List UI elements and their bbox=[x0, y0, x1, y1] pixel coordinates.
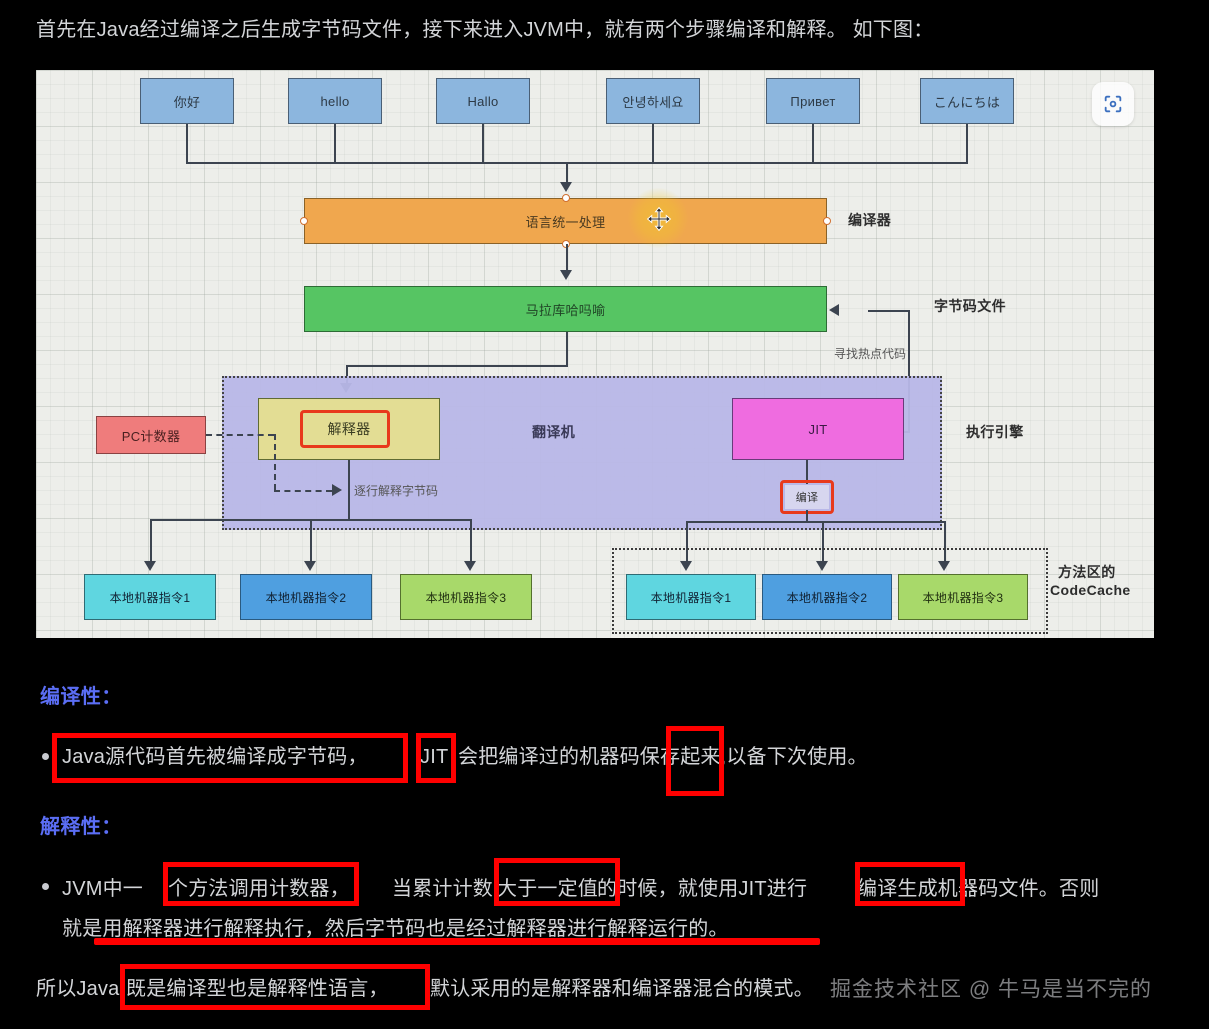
arrowhead bbox=[560, 182, 572, 192]
label-translator: 翻译机 bbox=[532, 422, 575, 442]
interpreter-box-label: 解释器 bbox=[328, 419, 371, 439]
native-instruction-label: 本地机器指令2 bbox=[266, 589, 347, 606]
language-box-5[interactable]: こんにちは bbox=[920, 78, 1014, 124]
label-bytecode-file: 字节码文件 bbox=[934, 296, 1006, 316]
arrowhead bbox=[332, 484, 342, 496]
native-instruction-label: 本地机器指令2 bbox=[787, 589, 868, 606]
connector-fanout-right bbox=[686, 521, 946, 523]
closing-part1: 所以Java bbox=[36, 972, 119, 1006]
label-codecache-line1: 方法区的 bbox=[1058, 562, 1116, 582]
connector bbox=[812, 124, 814, 162]
jit-box[interactable]: JIT bbox=[732, 398, 904, 460]
native-instruction-right-1[interactable]: 本地机器指令2 bbox=[762, 574, 892, 620]
language-box-label: Hallo bbox=[467, 94, 498, 109]
pc-counter-box[interactable]: PC计数器 bbox=[96, 416, 206, 454]
native-instruction-label: 本地机器指令1 bbox=[110, 589, 191, 606]
language-box-3[interactable]: 안녕하세요 bbox=[606, 78, 700, 124]
language-box-label: hello bbox=[321, 94, 350, 109]
jit-box-label: JIT bbox=[809, 422, 828, 437]
connector bbox=[966, 124, 968, 162]
bullet-marker bbox=[42, 753, 49, 760]
native-instruction-left-0[interactable]: 本地机器指令1 bbox=[84, 574, 216, 620]
arrowhead bbox=[144, 561, 156, 571]
connector bbox=[346, 365, 568, 367]
interpreted-line1-a: JVM中一 bbox=[62, 872, 143, 906]
connector bbox=[566, 332, 568, 366]
native-instruction-left-1[interactable]: 本地机器指令2 bbox=[240, 574, 372, 620]
bytecode-box[interactable]: 马拉库哈吗喻 bbox=[304, 286, 827, 332]
label-find-hot-code: 寻找热点代码 bbox=[834, 345, 906, 362]
closing-part3: 默认采用的是解释器和编译器混合的模式。 bbox=[430, 972, 814, 1006]
label-compiler: 编译器 bbox=[848, 210, 891, 230]
anchor-handle-left[interactable] bbox=[300, 217, 308, 225]
interpreted-line1-e: 的时候，就使用JIT进行 bbox=[597, 872, 807, 906]
anchor-handle-right[interactable] bbox=[823, 217, 831, 225]
label-compile: 编译 bbox=[796, 489, 819, 505]
lens-scan-icon bbox=[1102, 93, 1124, 115]
language-box-label: こんにちは bbox=[934, 92, 1001, 111]
language-box-label: Привет bbox=[790, 94, 835, 109]
closing-part2: 既是编译型也是解释性语言， bbox=[126, 972, 389, 1006]
compiled-bullet-part2: JIT bbox=[420, 740, 448, 774]
label-execution-engine: 执行引擎 bbox=[966, 422, 1024, 442]
label-line-by-line: 逐行解释字节码 bbox=[354, 482, 438, 499]
native-instruction-label: 本地机器指令3 bbox=[426, 589, 507, 606]
connector bbox=[652, 124, 654, 162]
connector bbox=[150, 519, 152, 567]
lens-scan-button[interactable] bbox=[1092, 82, 1134, 126]
connector bbox=[470, 519, 472, 567]
compiled-bullet-part3: 会把编译过的机器码保存起来,以备下次使用。 bbox=[458, 740, 868, 774]
connector-hotcode-h bbox=[868, 310, 910, 312]
intro-paragraph: 首先在Java经过编译之后生成字节码文件，接下来进入JVM中，就有两个步骤编译和… bbox=[36, 14, 1176, 46]
arrowhead bbox=[829, 304, 839, 316]
interpreter-box[interactable]: 解释器 bbox=[258, 398, 440, 460]
language-box-1[interactable]: hello bbox=[288, 78, 382, 124]
native-instruction-left-2[interactable]: 本地机器指令3 bbox=[400, 574, 532, 620]
connector-dashed bbox=[274, 434, 276, 490]
connector bbox=[348, 460, 350, 520]
language-box-0[interactable]: 你好 bbox=[140, 78, 234, 124]
interpreted-line1-f: 编译生成机器码文件。否则 bbox=[857, 872, 1099, 906]
native-instruction-right-0[interactable]: 本地机器指令1 bbox=[626, 574, 756, 620]
jvm-architecture-diagram: 你好 hello Hallo 안녕하세요 Привет こんにちは 语言统 bbox=[36, 70, 1154, 638]
connector-dashed bbox=[274, 490, 332, 492]
language-box-2[interactable]: Hallo bbox=[436, 78, 530, 124]
language-box-label: 안녕하세요 bbox=[622, 92, 683, 111]
connector-bus bbox=[186, 162, 968, 164]
pc-counter-label: PC计数器 bbox=[122, 426, 181, 445]
page-root: 首先在Java经过编译之后生成字节码文件，接下来进入JVM中，就有两个步骤编译和… bbox=[0, 0, 1209, 1029]
language-box-label: 你好 bbox=[174, 92, 201, 111]
native-instruction-label: 本地机器指令3 bbox=[923, 589, 1004, 606]
connector bbox=[310, 519, 312, 567]
language-box-4[interactable]: Привет bbox=[766, 78, 860, 124]
connector bbox=[482, 124, 484, 162]
arrowhead bbox=[304, 561, 316, 571]
native-instruction-label: 本地机器指令1 bbox=[651, 589, 732, 606]
connector-dashed bbox=[206, 434, 274, 436]
section-heading-interpreted: 解释性： bbox=[40, 810, 122, 839]
interpreted-line1-d: 大于一定值 bbox=[497, 872, 598, 906]
arrowhead bbox=[464, 561, 476, 571]
interpreted-line1-b: 个方法调用计数器， bbox=[168, 872, 350, 906]
interpreted-line2: 就是用解释器进行解释执行，然后字节码也是经过解释器进行解释运行的。 bbox=[62, 912, 729, 946]
arrowhead bbox=[560, 270, 572, 280]
connector bbox=[334, 124, 336, 162]
bytecode-box-label: 马拉库哈吗喻 bbox=[526, 300, 606, 319]
interpreted-line1-c: 当累计计数 bbox=[392, 872, 493, 906]
connector bbox=[186, 124, 188, 162]
native-instruction-right-2[interactable]: 本地机器指令3 bbox=[898, 574, 1028, 620]
watermark: 掘金技术社区 @ 牛马是当不完的 bbox=[830, 973, 1152, 1003]
move-cursor-icon bbox=[646, 206, 672, 237]
compiled-bullet-part1: Java源代码首先被编译成字节码， bbox=[62, 740, 368, 774]
language-unify-box[interactable]: 语言统一处理 bbox=[304, 198, 827, 244]
compile-edge-label-box: 编译 bbox=[784, 484, 830, 510]
language-unify-label: 语言统一处理 bbox=[526, 212, 606, 231]
section-heading-compiled: 编译性： bbox=[40, 680, 122, 709]
anchor-handle-top[interactable] bbox=[562, 194, 570, 202]
bullet-marker bbox=[42, 883, 49, 890]
label-codecache-line2: CodeCache bbox=[1050, 582, 1131, 598]
